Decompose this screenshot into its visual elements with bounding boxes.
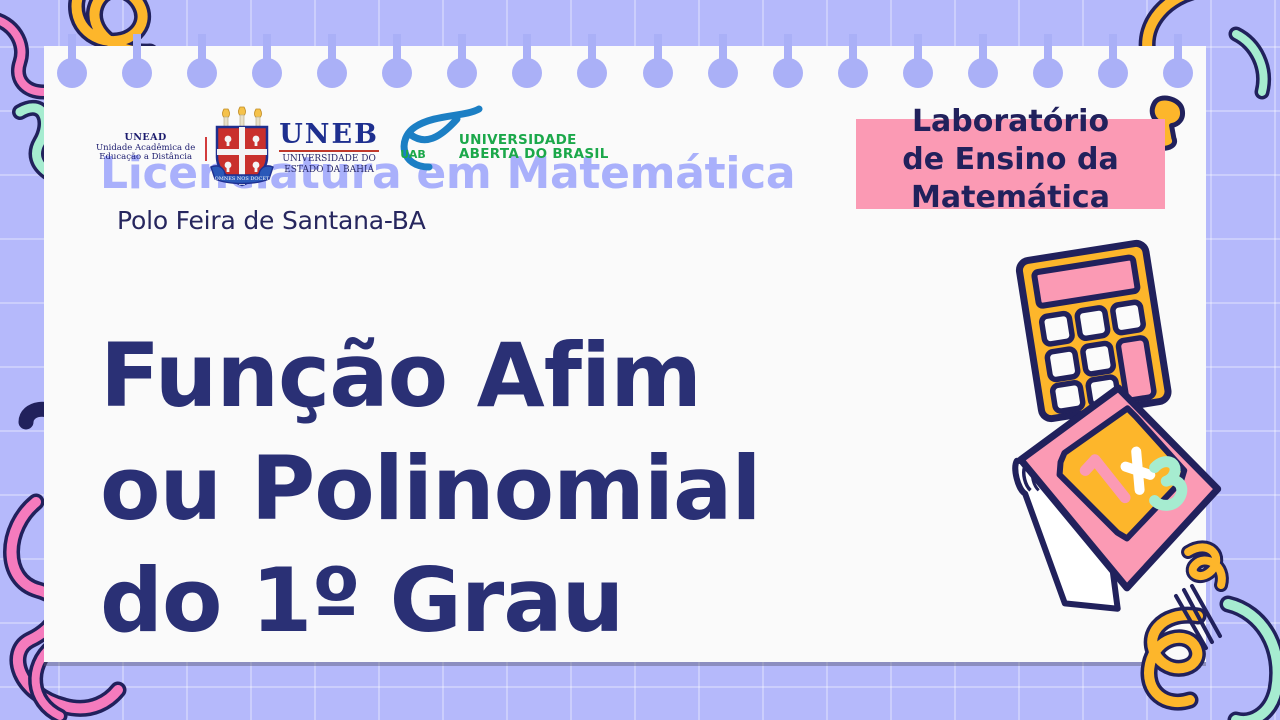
uneb-acronym: UNEB (279, 121, 379, 148)
lab-label-line2: de Ensino da (856, 141, 1165, 179)
unead-logo: UNEAD Unidade Acadêmica de Educação a Di… (96, 133, 207, 163)
title-line-3: do 1º Grau (100, 545, 940, 658)
lab-label-line1: Laboratório (856, 103, 1165, 141)
polo-location: Polo Feira de Santana-BA (117, 206, 426, 235)
unead-line2: Educação a Distância (99, 153, 192, 163)
math-book-icon (1001, 371, 1240, 627)
title-line-2: ou Polinomial (100, 433, 940, 546)
calculator-icon (1018, 242, 1169, 420)
uneb-rule (279, 150, 379, 152)
uab-wordmark: UNIVERSIDADE ABERTA DO BRASIL (459, 134, 609, 162)
book-bookmark-curl (1188, 544, 1224, 591)
lab-label-line3: Matemática (856, 179, 1165, 217)
uneb-logo: OMNES NOS DOCET UNEB UNIVERSIDADE DO EST… (211, 105, 379, 191)
uab-swoosh-icon: UAB (391, 105, 463, 191)
uneb-wordmark: UNEB UNIVERSIDADE DO ESTADO DA BAHIA (279, 121, 379, 175)
uab-acronym: UAB (400, 148, 426, 161)
yellow-curl-bottomright (1149, 615, 1198, 702)
unead-divider (205, 137, 207, 161)
uab-line2: ABERTA DO BRASIL (459, 148, 609, 162)
uneb-line2: ESTADO DA BAHIA (284, 165, 374, 175)
lab-label: Laboratório de Ensino da Matemática (856, 103, 1165, 216)
institution-logos: UNEAD Unidade Acadêmica de Educação a Di… (96, 100, 609, 196)
uneb-crest-icon: OMNES NOS DOCET (211, 105, 273, 191)
uneb-motto: OMNES NOS DOCET (215, 176, 270, 182)
page-title: Função Afim ou Polinomial do 1º Grau (100, 320, 940, 658)
uab-logo: UAB UNIVERSIDADE ABERTA DO BRASIL (391, 105, 609, 191)
title-line-1: Função Afim (100, 320, 940, 433)
uneb-line1: UNIVERSIDADE DO (282, 154, 376, 164)
